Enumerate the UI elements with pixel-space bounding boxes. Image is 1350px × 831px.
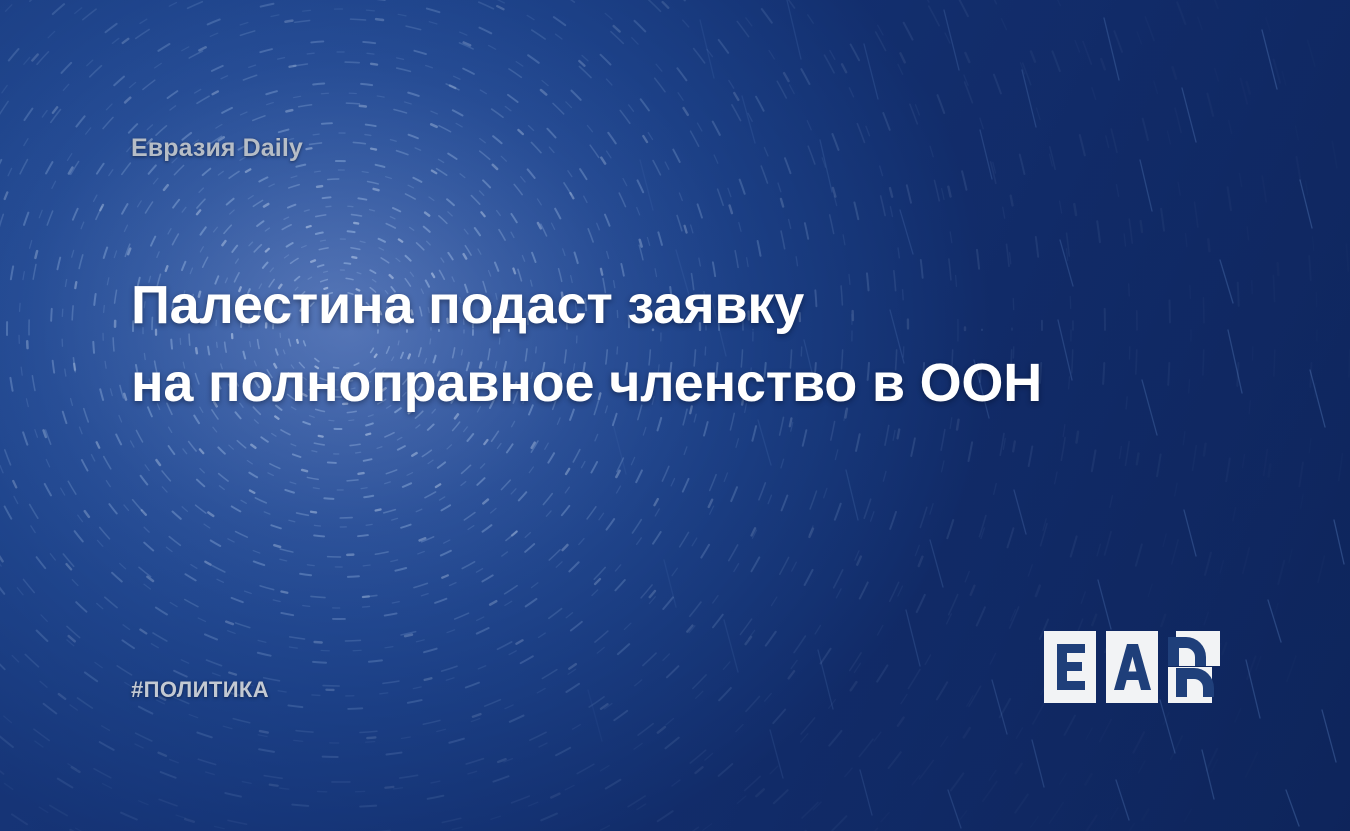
ead-tile-e <box>1044 631 1096 703</box>
category-hashtag[interactable]: #ПОЛИТИКА <box>131 678 269 702</box>
card-content: Евразия Daily Палестина подаст заявку на… <box>0 0 1350 831</box>
headline: Палестина подаст заявку на полноправное … <box>131 266 1211 422</box>
news-share-card: Евразия Daily Палестина подаст заявку на… <box>0 0 1350 831</box>
headline-line-1: Палестина подаст заявку <box>131 266 1211 344</box>
ead-tile-a <box>1106 631 1158 703</box>
ead-logo-mark[interactable] <box>1044 631 1220 703</box>
ead-tile-d <box>1168 631 1220 703</box>
site-logo-text: Евразия Daily <box>131 136 303 161</box>
headline-line-2: на полноправное членство в ООН <box>131 344 1211 422</box>
